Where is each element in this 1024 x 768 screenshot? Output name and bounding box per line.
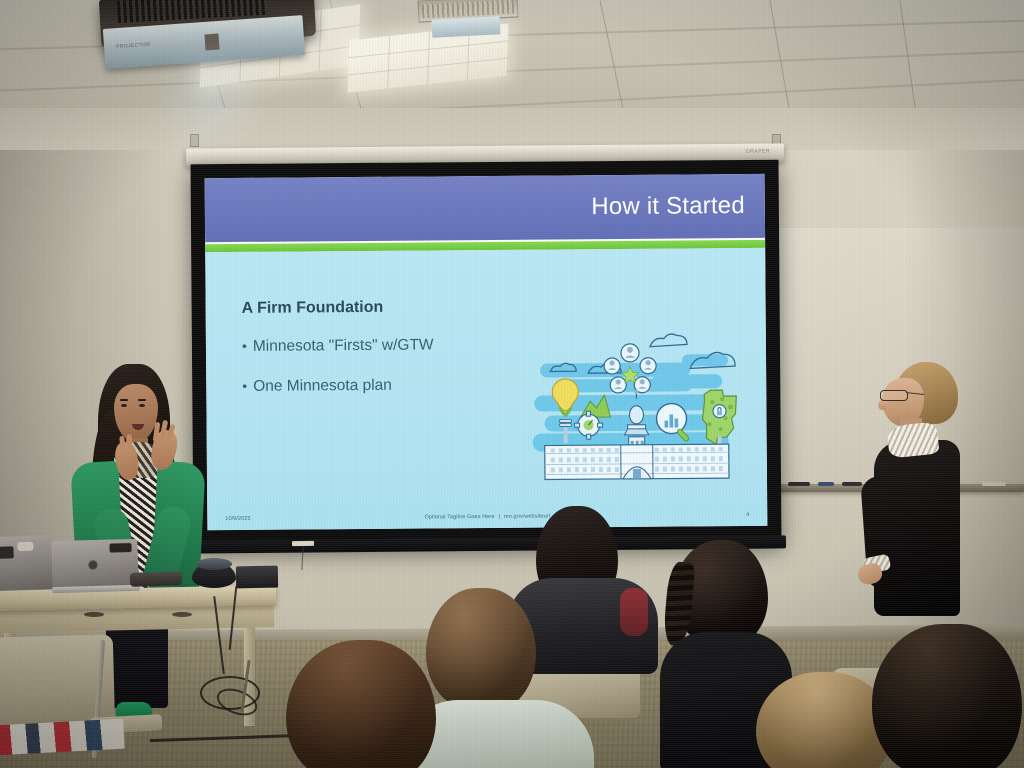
bullet-text: One Minnesota plan [253,377,392,396]
whiteboard-marker [788,482,810,486]
projector-ceiling-mount [204,34,219,51]
slide-footer-date: 10/9/2025 [225,515,398,522]
table-grommet [84,612,104,617]
bullet-marker-icon: • [242,379,247,393]
laptop-sticker [0,546,14,559]
ceiling-diffuser-plate [432,16,501,38]
slide-bullet-item: • One Minnesota plan [242,376,434,396]
conference-speaker-top [196,558,232,570]
presenter-right-lace-collar [886,421,939,458]
mouse-pad [130,571,182,587]
screen-bracket-left [190,134,199,147]
slide-bullet-item: • Minnesota "Firsts" w/GTW [242,336,434,356]
slide-footer-separator: | [498,514,500,520]
presenter-right [848,358,980,658]
audience-collar-accent [620,588,648,636]
whiteboard-marker [818,482,834,486]
laptop-sticker [17,542,33,552]
projector-brand-label: PROJECTOR [116,42,151,50]
adapter-block [236,566,278,589]
audience-member-4 [286,640,456,768]
projection-screen: How it Started A Firm Foundation • Minne… [191,160,782,547]
slide-heading: A Firm Foundation [242,299,384,318]
screen-brand-label: DRAPER [746,149,770,155]
table-grommet [172,612,192,617]
laptop-logo [88,560,98,570]
slide-title: How it Started [591,192,765,221]
slide-footer-tagline: Optional Tagline Goes Here [424,514,494,521]
bullet-text: Minnesota "Firsts" w/GTW [253,336,434,355]
slide-body: A Firm Foundation • Minnesota "Firsts" w… [205,248,767,530]
laptop-computer [0,535,55,591]
audience-head [872,624,1022,768]
slide-header-band: How it Started [205,174,765,242]
slide-illustration [532,332,741,494]
laptop-computer [51,539,138,591]
slide-bullet-list: • Minnesota "Firsts" w/GTW • One Minneso… [242,336,434,418]
audience-head [286,640,436,768]
eyeglasses-icon [880,390,908,401]
presenter-right-nose [878,400,887,410]
presentation-slide: How it Started A Firm Foundation • Minne… [205,174,768,530]
photo-scene: PROJECTOR DRAPER How it Started A Firm F… [0,0,1024,768]
capitol-infographic-svg [532,332,741,494]
slide-footer: 10/9/2025 Optional Tagline Goes Here | m… [207,512,767,522]
laptop-sticker [109,543,131,553]
bullet-marker-icon: • [242,339,247,353]
audience-member-6 [872,624,1024,768]
